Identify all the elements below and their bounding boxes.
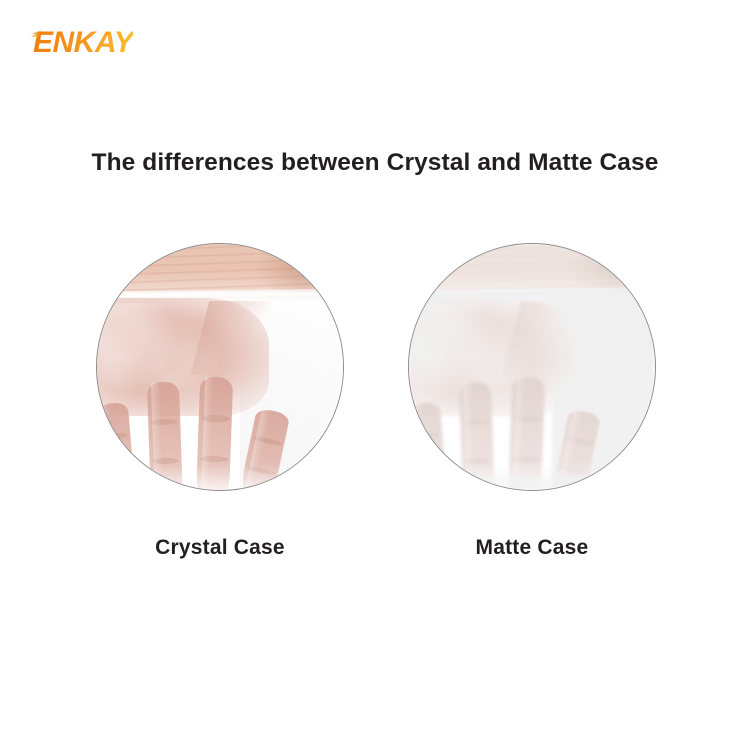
crystal-case-photo [96, 243, 344, 491]
knuckle-crease [253, 436, 282, 447]
comparison-row [0, 243, 750, 493]
crystal-scene [97, 244, 343, 490]
knuckle-crease [150, 418, 177, 425]
scene-bottom-fade [409, 465, 655, 490]
matte-case-photo [408, 243, 656, 491]
brand-logo-text: ENKAY [33, 26, 133, 59]
caption-crystal-case: Crystal Case [96, 536, 344, 560]
brand-logo: ENKAY [33, 28, 133, 58]
caption-matte-case: Matte Case [408, 536, 656, 560]
matte-scene [409, 244, 655, 490]
knuckle-crease [415, 432, 440, 439]
knuckle-crease [103, 432, 128, 439]
page-title: The differences between Crystal and Matt… [0, 149, 750, 177]
knuckle-crease [512, 455, 540, 462]
knuckle-crease [565, 436, 594, 447]
scene-bottom-fade [97, 465, 343, 490]
knuckle-crease [152, 457, 179, 464]
comparison-item-crystal [96, 243, 344, 491]
knuckle-crease [513, 415, 541, 422]
knuckle-crease [464, 457, 491, 464]
knuckle-crease [200, 455, 228, 462]
comparison-item-matte [408, 243, 656, 491]
knuckle-crease [462, 418, 489, 425]
knuckle-crease [201, 415, 229, 422]
